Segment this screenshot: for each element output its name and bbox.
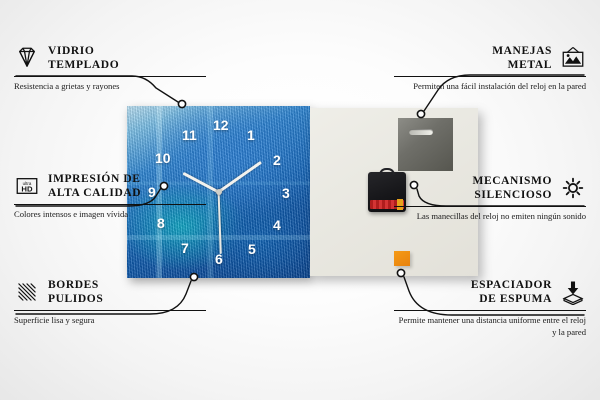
clock-numeral-8: 8 bbox=[157, 216, 165, 230]
feature-description: Permite mantener una distancia uniforme … bbox=[394, 315, 586, 338]
gear-icon bbox=[560, 175, 586, 201]
feature-description: Las manecillas del reloj no emiten ningú… bbox=[394, 211, 586, 223]
clock-numeral-10: 10 bbox=[155, 151, 171, 165]
clock-numeral-4: 4 bbox=[273, 218, 281, 232]
feature-title: ESPACIADOR DE ESPUMA bbox=[471, 278, 552, 306]
infographic-canvas: 12 1 2 3 4 5 6 7 8 9 10 11 bbox=[0, 0, 600, 400]
ultra-hd-icon: ultra HD bbox=[14, 173, 40, 199]
feature-vidrio-templado: VIDRIO TEMPLADO Resistencia a grietas y … bbox=[14, 44, 206, 93]
clock-numeral-11: 11 bbox=[182, 128, 197, 142]
feature-title: VIDRIO TEMPLADO bbox=[48, 44, 119, 72]
clock-numeral-3: 3 bbox=[282, 186, 290, 200]
divider bbox=[14, 310, 206, 311]
feature-title: BORDES PULIDOS bbox=[48, 278, 103, 306]
clock-numeral-12: 12 bbox=[213, 118, 229, 132]
clock-numeral-6: 6 bbox=[215, 252, 223, 266]
feature-title: MANEJAS METAL bbox=[492, 44, 552, 72]
clock-numeral-9: 9 bbox=[148, 185, 156, 199]
divider bbox=[394, 76, 586, 77]
polished-edge-icon bbox=[14, 279, 40, 305]
feature-manejas-metal: MANEJAS METAL Permiten una fácil instala… bbox=[394, 44, 586, 93]
feature-description: Superficie lisa y segura bbox=[14, 315, 206, 327]
node-espaciador bbox=[397, 269, 404, 276]
feature-description: Resistencia a grietas y rayones bbox=[14, 81, 206, 93]
feature-description: Colores intensos e imagen vívida bbox=[14, 209, 206, 221]
node-manejas bbox=[417, 110, 424, 117]
ultra-hd-big-label: HD bbox=[21, 185, 33, 194]
clock-numeral-5: 5 bbox=[248, 242, 256, 256]
clock-numeral-1: 1 bbox=[247, 128, 255, 142]
divider bbox=[14, 76, 206, 77]
divider bbox=[394, 310, 586, 311]
spacer-layers-icon bbox=[560, 279, 586, 305]
diamond-icon bbox=[14, 45, 40, 71]
feature-title: MECANISMO SILENCIOSO bbox=[472, 174, 552, 202]
clock-numeral-2: 2 bbox=[273, 153, 281, 167]
feature-mecanismo-silencioso: MECANISMO SILENCIOSO Las manecillas del … bbox=[394, 174, 586, 223]
wall-hanger-icon bbox=[560, 45, 586, 71]
clock-numeral-7: 7 bbox=[181, 241, 189, 255]
divider bbox=[394, 206, 586, 207]
feature-impresion-alta-calidad: ultra HD IMPRESIÓN DE ALTA CALIDAD Color… bbox=[14, 172, 206, 221]
divider bbox=[14, 204, 206, 205]
feature-espaciador-de-espuma: ESPACIADOR DE ESPUMA Permite mantener un… bbox=[394, 278, 586, 338]
hand-center-cap bbox=[216, 189, 222, 195]
node-vidrio bbox=[178, 100, 185, 107]
feature-description: Permiten una fácil instalación del reloj… bbox=[394, 81, 586, 93]
feature-bordes-pulidos: BORDES PULIDOS Superficie lisa y segura bbox=[14, 278, 206, 327]
feature-title: IMPRESIÓN DE ALTA CALIDAD bbox=[48, 172, 141, 200]
